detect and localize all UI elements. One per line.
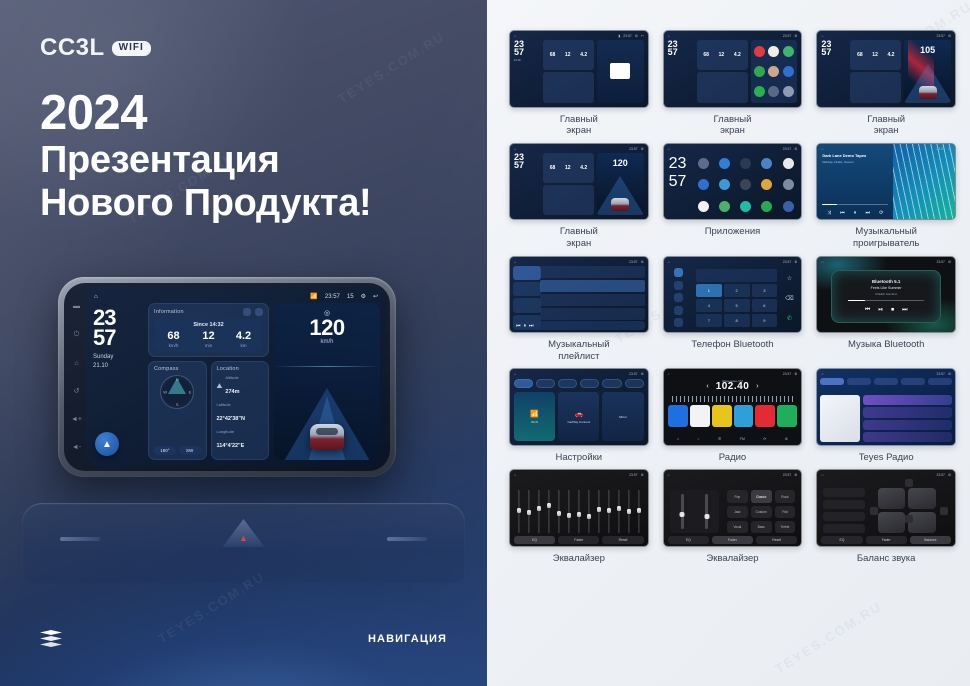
- location-title: Location: [217, 366, 264, 372]
- teyes-radio-tabs[interactable]: [820, 378, 952, 385]
- balance-right-button[interactable]: [940, 507, 948, 515]
- list-item[interactable]: [540, 308, 644, 320]
- readout-rear: [823, 500, 864, 509]
- track-artist: Dubcap, Drake, Giveon: [822, 160, 888, 164]
- list-item[interactable]: [540, 294, 644, 306]
- next-icon[interactable]: ⏭: [866, 210, 871, 216]
- preset-stations[interactable]: [668, 405, 798, 427]
- eq-band-slider[interactable]: [625, 490, 633, 533]
- gallery-item[interactable]: ⌂23:57⚙ Pop Classic Rock Jazz Custom Fla…: [663, 469, 803, 564]
- dial-key-7[interactable]: 7: [696, 314, 722, 327]
- preset-custom[interactable]: Custom: [751, 506, 772, 518]
- app-icon-filemanager[interactable]: [761, 179, 772, 190]
- call-history-icon[interactable]: [674, 306, 683, 315]
- gallery-caption: Телефон Bluetooth: [691, 339, 773, 351]
- gallery-item[interactable]: ⌂23:57⚙ 1 2 3 4 5: [663, 256, 803, 363]
- home-icon: ⌂: [514, 260, 516, 264]
- app-icon: [754, 86, 765, 97]
- car-3d-model: [310, 424, 344, 450]
- album-art: [610, 63, 630, 79]
- thumbnail-sound-balance[interactable]: ⌂23:57⚙: [816, 469, 956, 547]
- refresh-icon[interactable]: [243, 308, 251, 316]
- radio-tuner[interactable]: Шэньчжэнь FM ‹ 102.40 ›: [668, 378, 798, 394]
- gallery-item[interactable]: ⌂23:57⚙ ⏮ ⏸: [509, 256, 649, 363]
- tab-balance[interactable]: Balance: [910, 536, 951, 544]
- status-time: 23:57: [325, 294, 340, 300]
- app-icon: [768, 46, 779, 57]
- stat-value: 4.2: [226, 331, 261, 342]
- gallery-item[interactable]: ⌂23:57⚙ 📶 Wi-Fi: [509, 368, 649, 463]
- expand-icon[interactable]: [255, 308, 263, 316]
- thumbnail-music-player[interactable]: Dark Lane Demo Tapes Dubcap, Drake, Give…: [816, 143, 956, 221]
- gallery-item[interactable]: ⌂23:57⚙ 2357 68124.2: [663, 30, 803, 137]
- list-item[interactable]: [863, 395, 952, 405]
- clock-widget[interactable]: 23 57 Sunday 21.10 ▲: [93, 303, 143, 460]
- previous-icon[interactable]: ⏮: [865, 307, 870, 314]
- head-unit-side-buttons[interactable]: ▬ ⏻ ⌂ ↺ ◄+ ◄-: [68, 293, 85, 461]
- status-time: 23:57: [629, 147, 638, 151]
- preset-buttons[interactable]: Pop Classic Rock Jazz Custom Flat Vocal …: [727, 490, 795, 533]
- head-unit-screen[interactable]: ⌂ 📶 23:57 15 ⚙ ↩ 23: [86, 287, 386, 467]
- thumbnail-bluetooth-music[interactable]: ⌂23:57⚙ Bluetooth 5.1 Feels Like Summer …: [816, 256, 956, 334]
- preset-classical[interactable]: Classic: [751, 490, 772, 502]
- gear-icon: ⚙: [794, 34, 797, 38]
- gallery-item[interactable]: ⌂23:57⚙ Bluetooth 5.1 Feels Like Summer …: [816, 256, 956, 363]
- preset-5[interactable]: [755, 405, 775, 427]
- sidebar-item-favorites[interactable]: [513, 298, 541, 312]
- status-time: 23:57: [629, 372, 638, 376]
- app-icon: [783, 66, 794, 77]
- radio-toolbar[interactable]: ⌂ ⌕ ☰ FM ⟳ ⚙: [668, 436, 798, 443]
- tab-display[interactable]: [558, 379, 577, 388]
- mountain-icon: ⛰: [217, 383, 223, 391]
- altitude-value: 274m: [225, 389, 239, 395]
- list-item[interactable]: [863, 432, 952, 442]
- next-icon[interactable]: ⏭: [902, 307, 907, 314]
- repeat-icon[interactable]: ⟳: [879, 210, 883, 216]
- favorite-icon[interactable]: ☆: [787, 275, 792, 282]
- bluetooth-version: Bluetooth 5.1: [872, 279, 901, 284]
- brand-name: CC3L: [40, 34, 105, 62]
- dial-key-2[interactable]: 2: [724, 284, 750, 297]
- app-icon-dvr[interactable]: [740, 179, 751, 190]
- dial-key-5[interactable]: 5: [724, 299, 750, 312]
- contacts-icon[interactable]: [674, 281, 683, 290]
- status-time: 23:57: [783, 473, 792, 477]
- equalizer-tabs[interactable]: EQ Fader Reset: [514, 536, 644, 544]
- navigation-label: НАВИГАЦИЯ: [368, 633, 447, 645]
- next-icon[interactable]: ⏭: [529, 323, 534, 329]
- seat-balance-pad[interactable]: [878, 488, 936, 533]
- thumbnail-equalizer-presets[interactable]: ⌂23:57⚙ Pop Classic Rock Jazz Custom Fla…: [663, 469, 803, 547]
- gallery-item[interactable]: ⌂23:57⚙ Шэньчжэнь FM ‹ 102.40 ›: [663, 368, 803, 463]
- home-icon[interactable]: ⌂: [677, 437, 679, 441]
- compass-n: N: [176, 377, 179, 382]
- wifi-icon: 📶: [310, 293, 317, 300]
- pause-icon[interactable]: ⏸: [854, 210, 857, 216]
- player-controls[interactable]: ⤨ ⏮ ⏸ ⏭ ⟳: [822, 210, 888, 216]
- list-item[interactable]: [540, 266, 644, 278]
- settings-tabs[interactable]: [514, 379, 644, 388]
- dialpad[interactable]: 1 2 3 4 5 6 7 8 9: [694, 267, 779, 330]
- hazard-triangle-icon: ▲: [239, 533, 248, 543]
- home-icon: ⌂: [514, 473, 516, 477]
- compass-dial: N S E W: [160, 375, 194, 409]
- balance-down-button[interactable]: [905, 515, 913, 523]
- volume-up-icon[interactable]: ◄+: [71, 416, 82, 423]
- list-icon[interactable]: ☰: [718, 437, 721, 441]
- home-icon: ⌂: [821, 473, 823, 477]
- app-icon-maps[interactable]: [719, 201, 730, 212]
- gear-icon[interactable]: ⚙: [361, 293, 366, 300]
- dial-key-3[interactable]: 3: [752, 284, 778, 297]
- dial-key-1[interactable]: 1: [696, 284, 722, 297]
- home-icon: ⌂: [668, 473, 670, 477]
- app-icon-camera[interactable]: [783, 158, 794, 169]
- app-icon-music[interactable]: [740, 201, 751, 212]
- tab-fader[interactable]: Fader: [558, 536, 599, 544]
- gear-icon: ⚙: [948, 147, 951, 151]
- eq-band-slider[interactable]: [525, 490, 533, 533]
- status-time: 23:57: [783, 260, 792, 264]
- gallery-caption: Эквалайзер: [553, 553, 605, 565]
- thumbnail-settings[interactable]: ⌂23:57⚙ 📶 Wi-Fi: [509, 368, 649, 446]
- layers-icon: [40, 630, 62, 648]
- thumbnail-home-speed-red[interactable]: ⌂23:57⚙ 2357 68124.2 105: [816, 30, 956, 108]
- tile-wifi[interactable]: 📶 Wi-Fi: [514, 392, 555, 441]
- stat-distance: 4.2 km: [226, 331, 261, 348]
- readout-right: [823, 524, 864, 533]
- stat-value: 68: [156, 331, 191, 342]
- balance-tabs[interactable]: EQ Fader Balance: [821, 536, 951, 544]
- list-item[interactable]: [863, 407, 952, 417]
- gallery-caption: Главныйэкран: [560, 226, 598, 249]
- tile-label: Wi-Fi: [531, 420, 538, 424]
- app-icon: [783, 86, 794, 97]
- app-icon-calculator[interactable]: [761, 158, 772, 169]
- tile-mirror[interactable]: Mirror: [602, 392, 643, 441]
- tab-news[interactable]: [874, 378, 898, 385]
- clock-minutes: 57: [668, 48, 694, 56]
- stop-icon[interactable]: ⏹: [891, 307, 894, 314]
- thumbnail-home-apps[interactable]: ⌂23:57⚙ 2357 68124.2: [663, 30, 803, 108]
- since-label: Since 14:32: [156, 322, 261, 328]
- shuffle-icon[interactable]: ⤨: [827, 210, 831, 216]
- thumbnail-home-media[interactable]: ⌂▮23:57⚙↩ 235721.10 68124.2: [509, 30, 649, 108]
- list-item[interactable]: [540, 280, 644, 292]
- tab-reset[interactable]: Reset: [756, 536, 797, 544]
- app-grid[interactable]: [694, 154, 797, 216]
- gallery-item[interactable]: ⌂23:57⚙ 23 57: [663, 143, 803, 250]
- gear-icon: ⚙: [641, 260, 644, 264]
- gallery-item[interactable]: Dark Lane Demo Tapes Dubcap, Drake, Give…: [816, 143, 956, 250]
- mini-player-bar[interactable]: ⏮ ⏸ ⏭: [513, 321, 645, 330]
- settings-tiles[interactable]: 📶 Wi-Fi 🚗 CarPlay Connect Mirror: [514, 392, 644, 441]
- seat-rear-left[interactable]: [878, 512, 905, 533]
- speed-value: 120: [274, 317, 380, 339]
- preset-pop[interactable]: Pop: [727, 490, 748, 502]
- tab-reset[interactable]: Reset: [602, 536, 643, 544]
- latitude-label: Latitude: [217, 402, 264, 407]
- widgets-column: Information Since 14:32: [148, 303, 269, 460]
- preset-treble[interactable]: Treble: [775, 521, 796, 533]
- previous-icon[interactable]: ⏮: [840, 210, 845, 216]
- speed-value: 120: [597, 158, 644, 168]
- location-widget[interactable]: Location ⛰ Altitude 274m: [211, 361, 270, 460]
- tab-system[interactable]: [625, 379, 644, 388]
- tab-genres[interactable]: [847, 378, 871, 385]
- progress-bar[interactable]: [848, 300, 924, 302]
- app-icon: [754, 46, 765, 57]
- hazard-button[interactable]: ▲: [223, 519, 265, 547]
- track-artist: Childish Gambino: [875, 292, 897, 296]
- stat-duration: 12 min: [191, 331, 226, 348]
- thumbnail-apps[interactable]: ⌂23:57⚙ 23 57: [663, 143, 803, 221]
- play-pause-icon[interactable]: ⏯: [878, 307, 883, 314]
- eq-band-slider[interactable]: [565, 490, 573, 533]
- headline-year: 2024: [40, 88, 371, 139]
- dial-key-4[interactable]: 4: [696, 299, 722, 312]
- compass-heading: 180°: [154, 446, 176, 455]
- app-icon-avin[interactable]: [698, 158, 709, 169]
- wifi-badge: WIFI: [112, 41, 151, 56]
- preset-3[interactable]: [712, 405, 732, 427]
- eq-band-slider[interactable]: [515, 490, 523, 533]
- fader-slider[interactable]: [681, 494, 684, 529]
- speed-widget[interactable]: ◎ 120 km/h: [274, 303, 380, 460]
- stat-value: 12: [191, 331, 226, 342]
- compass-w: W: [163, 390, 167, 395]
- settings-icon[interactable]: ⚙: [785, 437, 788, 441]
- search-icon[interactable]: ⌕: [698, 437, 700, 441]
- seat-front-left[interactable]: [878, 488, 905, 509]
- gear-icon: ⚙: [635, 34, 638, 38]
- fader-slider[interactable]: [705, 494, 708, 529]
- gallery-item[interactable]: ⌂23:57⚙: [509, 469, 649, 564]
- dialpad-icon[interactable]: [674, 268, 683, 277]
- app-icon-radio[interactable]: [783, 201, 794, 212]
- preset-1[interactable]: [668, 405, 688, 427]
- navigation-arrow-icon[interactable]: ▲: [95, 432, 119, 456]
- home-icon: ⌂: [668, 34, 670, 38]
- home-icon: ⌂: [668, 372, 670, 376]
- clock-hours: 23: [669, 155, 687, 173]
- dial-key-6[interactable]: 6: [752, 299, 778, 312]
- gallery-item[interactable]: ⌂▮23:57⚙↩ 235721.10 68124.2 Главныйэкран: [509, 30, 649, 137]
- gear-icon: ⚙: [641, 473, 644, 477]
- eq-band-slider[interactable]: [585, 490, 593, 533]
- gallery-item[interactable]: ⌂23:57⚙ 2357 68124.2 105 Главныйэкран: [816, 30, 956, 137]
- sidebar-item-tracks[interactable]: [513, 266, 541, 280]
- station-list[interactable]: [863, 395, 952, 442]
- back-arrow-icon: ↩: [641, 34, 644, 38]
- thumbnail-bluetooth-phone[interactable]: ⌂23:57⚙ 1 2 3 4 5: [663, 256, 803, 334]
- gear-icon: ⚙: [641, 372, 644, 376]
- eq-band-slider[interactable]: [635, 490, 643, 533]
- list-item[interactable]: [863, 420, 952, 430]
- tab-wifi[interactable]: [514, 379, 533, 388]
- dial-key-8[interactable]: 8: [724, 314, 750, 327]
- app-icon-bluetooth[interactable]: [719, 158, 730, 169]
- player-controls[interactable]: ⏮ ⏯ ⏹ ⏭: [865, 307, 908, 314]
- settings-icon[interactable]: [674, 318, 683, 327]
- tab-factory[interactable]: [580, 379, 599, 388]
- wifi-icon: 📶: [530, 410, 539, 418]
- progress-bar[interactable]: [822, 204, 888, 206]
- clock-date: 21.10: [93, 362, 143, 370]
- app-icon-gallery[interactable]: [783, 179, 794, 190]
- volume-down-icon[interactable]: ◄-: [72, 444, 81, 451]
- gallery-caption: Музыкальныйпроигрыватель: [853, 226, 919, 249]
- sidebar-item-albums[interactable]: [513, 282, 541, 296]
- eq-band-slider[interactable]: [575, 490, 583, 533]
- playlist-sidebar[interactable]: [513, 266, 541, 330]
- frequency-scale[interactable]: [672, 396, 794, 402]
- left-hero-panel: TEYES.COM.RU TEYES.COM.RU TEYES.COM.RU C…: [0, 0, 487, 686]
- tab-favorites[interactable]: [928, 378, 952, 385]
- preset-6[interactable]: [777, 405, 797, 427]
- gallery-caption: Эквалайзер: [706, 553, 758, 565]
- app-icon-circuit[interactable]: [719, 179, 730, 190]
- gallery-item[interactable]: ⌂23:57⚙: [816, 469, 956, 564]
- previous-station-icon[interactable]: ‹: [706, 383, 708, 390]
- information-widget[interactable]: Information Since 14:32: [148, 303, 269, 357]
- tab-eq[interactable]: EQ: [668, 536, 709, 544]
- back-arrow-icon[interactable]: ↺: [74, 387, 80, 395]
- tab-recommended[interactable]: [820, 378, 844, 385]
- balance-left-button[interactable]: [870, 507, 878, 515]
- search-icon[interactable]: [674, 293, 683, 302]
- preset-vocal[interactable]: Vocal: [727, 521, 748, 533]
- balance-up-button[interactable]: [905, 479, 913, 487]
- gallery-item[interactable]: ⌂23:57⚙ 2357 68124.2 120 Главныйэкран: [509, 143, 649, 250]
- power-icon[interactable]: ⏻: [74, 331, 80, 339]
- tab-fader[interactable]: Fader: [712, 536, 753, 544]
- preset-4[interactable]: [734, 405, 754, 427]
- presentation-page: TEYES.COM.RU TEYES.COM.RU TEYES.COM.RU C…: [0, 0, 970, 686]
- app-icon: [754, 66, 765, 77]
- next-station-icon[interactable]: ›: [756, 383, 758, 390]
- eq-band-slider[interactable]: [605, 490, 613, 533]
- preset-jazz[interactable]: Jazz: [727, 506, 748, 518]
- tab-sound[interactable]: [536, 379, 555, 388]
- thumbnail-home-speed[interactable]: ⌂23:57⚙ 2357 68124.2 120: [509, 143, 649, 221]
- tab-podcasts[interactable]: [901, 378, 925, 385]
- balance-readouts: [823, 488, 864, 533]
- thumbnail-equalizer-bars[interactable]: ⌂23:57⚙: [509, 469, 649, 547]
- app-icon-driving[interactable]: [698, 179, 709, 190]
- dial-key-9[interactable]: 9: [752, 314, 778, 327]
- preset-flat[interactable]: Flat: [775, 506, 796, 518]
- headline-line-1: Презентация: [40, 139, 371, 182]
- compass-s: S: [176, 402, 179, 407]
- eq-band-slider[interactable]: [615, 490, 623, 533]
- status-time: 23:57: [936, 147, 945, 151]
- gear-icon: ⚙: [948, 473, 951, 477]
- compass-widget[interactable]: Compass N S E W: [148, 361, 207, 460]
- bluetooth-card: Bluetooth 5.1 Feels Like Summer Childish…: [831, 270, 941, 323]
- thumbnail-radio[interactable]: ⌂23:57⚙ Шэньчжэнь FM ‹ 102.40 ›: [663, 368, 803, 446]
- home-icon: ⌂: [821, 260, 823, 264]
- tab-fader[interactable]: Fader: [866, 536, 907, 544]
- previous-icon[interactable]: ⏮: [516, 323, 521, 329]
- app-icon-bluetooth-music[interactable]: [740, 158, 751, 169]
- gallery-caption: Радио: [719, 452, 746, 464]
- phone-sidebar[interactable]: [667, 267, 690, 330]
- fader-sliders[interactable]: [670, 490, 720, 533]
- tab-eq[interactable]: EQ: [514, 536, 555, 544]
- eq-band-slider[interactable]: [545, 490, 553, 533]
- home-icon: ⌂: [668, 260, 670, 264]
- eq-band-slider[interactable]: [535, 490, 543, 533]
- clock-minutes: 57: [669, 173, 687, 191]
- scan-icon[interactable]: ⟳: [763, 437, 766, 441]
- app-icon-onedrive[interactable]: [698, 201, 709, 212]
- menu-icon[interactable]: ▬: [73, 303, 80, 310]
- car-3d-model: [919, 86, 937, 99]
- status-time: 23:57: [623, 34, 632, 38]
- gallery-caption: Главныйэкран: [714, 114, 752, 137]
- home-icon: ⌂: [821, 147, 823, 151]
- gear-icon: ⚙: [948, 372, 951, 376]
- clock-minutes: 57: [821, 48, 847, 56]
- phone-number-display: [696, 269, 777, 282]
- seat-front-right[interactable]: [908, 488, 935, 509]
- stat-unit: km: [226, 343, 261, 348]
- clock-minutes: 57: [514, 48, 540, 56]
- clock-date: 21.10: [514, 59, 540, 62]
- home-icon[interactable]: ⌂: [94, 294, 98, 300]
- preset-2[interactable]: [690, 405, 710, 427]
- home-icon: ⌂: [821, 34, 823, 38]
- home-icon: ⌂: [514, 147, 516, 151]
- wifi-icon: ▮: [618, 34, 620, 38]
- tile-carplay[interactable]: 🚗 CarPlay Connect: [558, 392, 599, 441]
- home-icon[interactable]: ⌂: [74, 360, 78, 367]
- equalizer-sliders[interactable]: [515, 490, 643, 533]
- thumbnail-playlist[interactable]: ⌂23:57⚙ ⏮ ⏸: [509, 256, 649, 334]
- app-icon: [768, 86, 779, 97]
- preset-bass[interactable]: Bass: [751, 521, 772, 533]
- back-arrow-icon[interactable]: ↩: [373, 293, 378, 300]
- gallery-item[interactable]: ⌂23:57⚙: [816, 368, 956, 463]
- backspace-icon[interactable]: ⌫: [785, 295, 793, 302]
- status-time: 23:57: [936, 34, 945, 38]
- thumbnail-teyes-radio[interactable]: ⌂23:57⚙: [816, 368, 956, 446]
- equalizer-tabs[interactable]: EQ Fader Reset: [668, 536, 798, 544]
- gallery-caption: Приложения: [705, 226, 761, 238]
- gear-icon: ⚙: [794, 147, 797, 151]
- tab-eq[interactable]: EQ: [821, 536, 862, 544]
- tile-label: CarPlay Connect: [567, 420, 590, 424]
- volume-level: 15: [347, 294, 354, 300]
- headline-line-2: Нового Продукта!: [40, 182, 371, 225]
- pause-icon[interactable]: ⏸: [524, 323, 527, 329]
- head-unit-frame: ▬ ⏻ ⌂ ↺ ◄+ ◄- ⌂ 📶 23:57 15: [64, 283, 390, 471]
- eq-band-slider[interactable]: [555, 490, 563, 533]
- tile-label: Mirror: [619, 415, 627, 419]
- home-icon: ⌂: [821, 372, 823, 376]
- app-icon-playstore[interactable]: [761, 201, 772, 212]
- preset-rock[interactable]: Rock: [775, 490, 796, 502]
- tab-personal[interactable]: [602, 379, 621, 388]
- call-icon[interactable]: ✆: [787, 315, 792, 322]
- eq-band-slider[interactable]: [595, 490, 603, 533]
- track-list[interactable]: [540, 266, 644, 321]
- phone-actions[interactable]: ☆ ⌫ ✆: [780, 269, 798, 330]
- hero-footer: НАВИГАЦИЯ: [40, 630, 447, 648]
- band-icon[interactable]: FM: [740, 437, 745, 441]
